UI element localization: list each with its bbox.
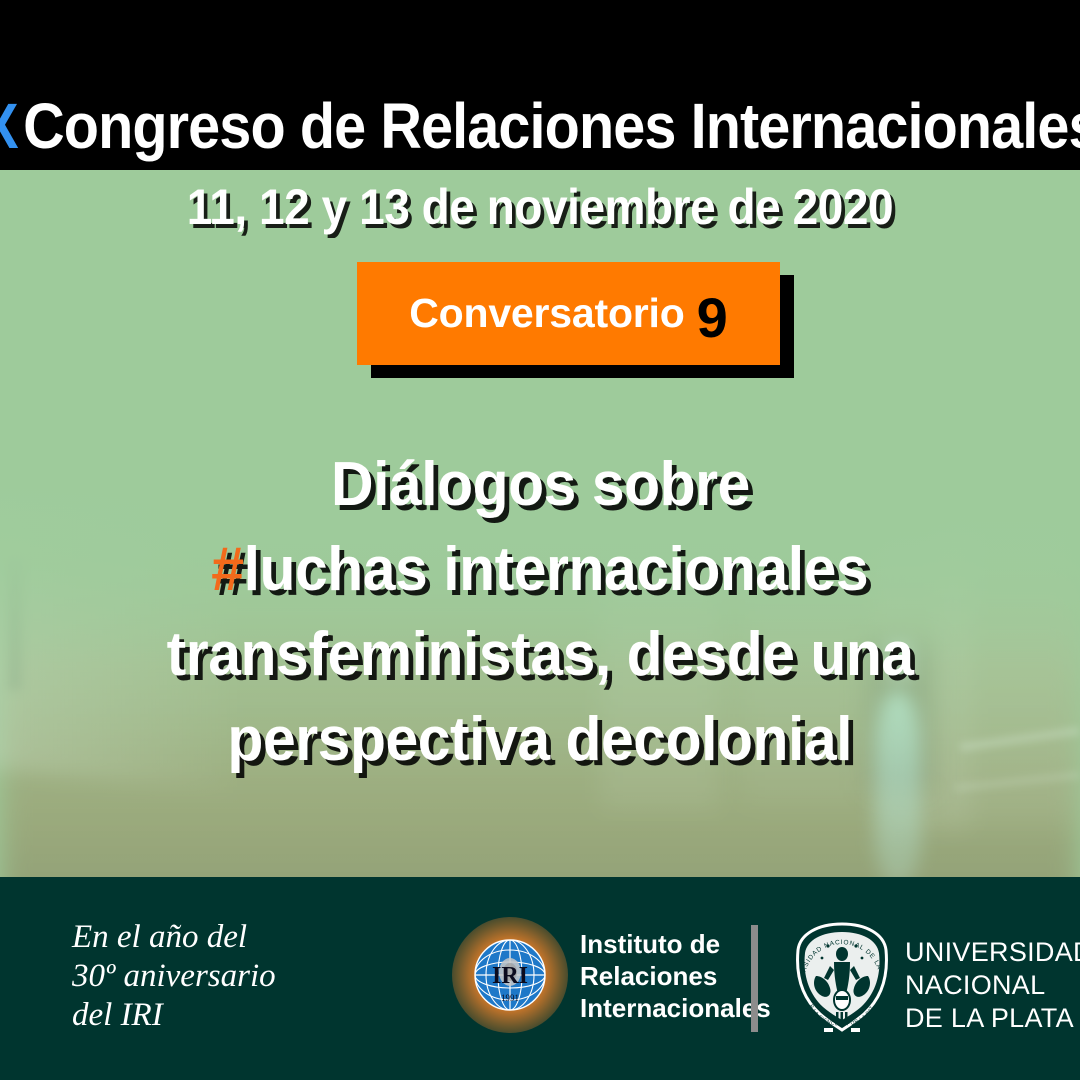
- session-title-line-4: perspectiva decolonial: [0, 697, 1080, 782]
- session-title: Diálogos sobre #luchas internacionales t…: [0, 442, 1080, 782]
- badge-label: Conversatorio: [409, 290, 684, 337]
- session-title-line-4-text: perspectiva decolonial: [228, 697, 853, 782]
- iri-logo-letters: IRI: [492, 963, 528, 989]
- session-title-line-2: #luchas internacionales: [0, 527, 1080, 612]
- event-date-text: 11, 12 y 13 de noviembre de 2020: [187, 178, 893, 236]
- hashtag-symbol: #: [212, 535, 244, 604]
- conversatorio-badge[interactable]: Conversatorio 9: [357, 262, 780, 365]
- poster-canvas: XCongreso de Relaciones Internacionales …: [0, 0, 1080, 1080]
- congress-title-text: Congreso de Relaciones Internacionales: [23, 90, 1080, 162]
- badge-number: 9: [697, 290, 728, 346]
- iri-globe-icon: IRI 1991: [474, 939, 546, 1011]
- unlp-university-name: UNIVERSIDAD NACIONAL DE LA PLATA: [905, 936, 1080, 1035]
- header-bar: XCongreso de Relaciones Internacionales: [0, 0, 1080, 170]
- badge-box[interactable]: Conversatorio 9: [357, 262, 780, 365]
- session-title-line-3-text: transfeministas, desde una: [166, 612, 913, 697]
- footer-divider: [751, 925, 758, 1032]
- iri-logo: IRI 1991: [452, 917, 568, 1033]
- iri-institute-name: Instituto de Relaciones Internacionales: [580, 928, 771, 1024]
- anniversary-note: En el año del 30º aniversario del IRI: [72, 918, 276, 1035]
- congress-title: XCongreso de Relaciones Internacionales: [0, 94, 1080, 158]
- event-date: 11, 12 y 13 de noviembre de 2020: [0, 178, 1080, 236]
- iri-logo-year: 1991: [501, 993, 519, 1003]
- session-title-line-1: Diálogos sobre: [0, 442, 1080, 527]
- session-title-line-1-text: Diálogos sobre: [331, 442, 750, 527]
- congress-numeral: X: [0, 90, 18, 162]
- session-title-line-3: transfeministas, desde una: [0, 612, 1080, 697]
- unlp-crest-icon: UNIVERSIDAD NACIONAL DE LA PLATA POR LA …: [790, 920, 894, 1038]
- session-title-line-2-text: luchas internacionales: [244, 535, 869, 604]
